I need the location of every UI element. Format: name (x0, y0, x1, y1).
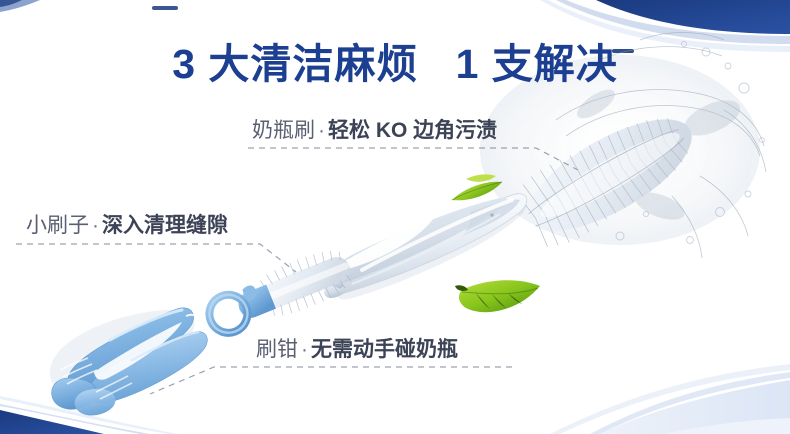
feature-label-tongs: 刷钳·无需动手碰奶瓶 (256, 336, 458, 364)
feature-label-separator: · (315, 119, 328, 142)
feature-label-highlight: 深入清理缝隙 (102, 214, 228, 237)
bottle-tongs (50, 308, 207, 416)
feature-label-separator: · (298, 338, 311, 361)
feature-label-lead: 奶瓶刷 (252, 119, 315, 142)
feature-label-separator: · (89, 214, 102, 237)
feature-label-highlight: 无需动手碰奶瓶 (311, 338, 458, 361)
feature-label-small-brush: 小刷子·深入清理缝隙 (26, 212, 228, 240)
feature-label-bottle-brush: 奶瓶刷·轻松 KO 边角污渍 (252, 117, 497, 145)
feature-label-lead: 小刷子 (26, 214, 89, 237)
promo-poster: 3 大清洁麻烦 1 支解决 奶瓶刷·轻松 KO 边角污渍 小刷子·深入清理缝隙 … (0, 0, 790, 434)
feature-label-lead: 刷钳 (256, 338, 298, 361)
green-leaf-lower (455, 280, 540, 312)
feature-label-highlight: 轻松 KO 边角污渍 (328, 119, 497, 142)
page-title: 3 大清洁麻烦 1 支解决 (0, 38, 790, 90)
